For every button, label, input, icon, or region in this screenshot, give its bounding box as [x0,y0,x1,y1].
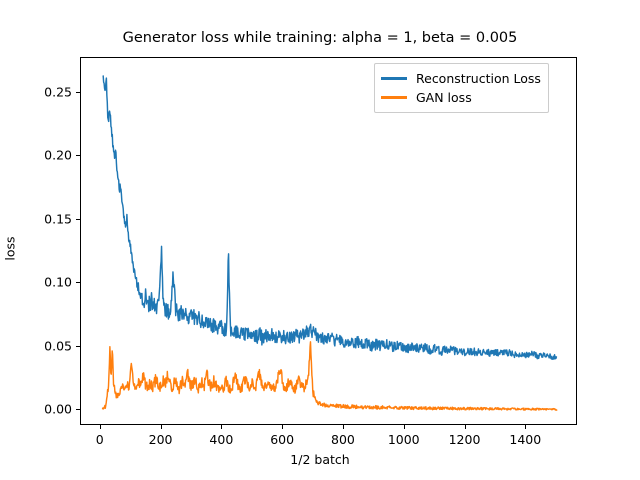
x-tick-mark [161,425,162,429]
x-tick-mark [343,425,344,429]
x-axis-label: 1/2 batch [0,452,640,467]
x-tick-mark [100,425,101,429]
x-tick-label: 1000 [388,432,420,447]
x-tick-mark [404,425,405,429]
x-tick-mark [282,425,283,429]
y-tick-mark [76,219,80,220]
y-tick-mark [76,346,80,347]
x-tick-label: 200 [149,432,173,447]
legend-item-gan-loss: GAN loss [381,88,541,107]
y-tick-mark [76,409,80,410]
legend-swatch-gan-loss [381,96,407,98]
y-tick-label: 0.20 [0,148,72,163]
x-tick-mark [465,425,466,429]
x-tick-label: 600 [270,432,294,447]
y-tick-label: 0.10 [0,275,72,290]
matplotlib-figure: Generator loss while training: alpha = 1… [0,0,640,480]
y-tick-label: 0.25 [0,84,72,99]
legend-label-gan-loss: GAN loss [416,90,472,105]
x-tick-label: 400 [209,432,233,447]
y-tick-label: 0.05 [0,338,72,353]
y-tick-label: 0.00 [0,402,72,417]
x-tick-label: 1200 [449,432,481,447]
legend-item-reconstruction-loss: Reconstruction Loss [381,69,541,88]
x-tick-label: 0 [96,432,104,447]
y-tick-mark [76,155,80,156]
y-axis-label: loss [3,236,18,260]
x-tick-mark [221,425,222,429]
x-tick-mark [525,425,526,429]
y-tick-mark [76,282,80,283]
series-line-reconstruction-loss [103,76,556,359]
y-tick-label: 0.15 [0,211,72,226]
x-tick-label: 1400 [509,432,541,447]
x-tick-label: 800 [331,432,355,447]
legend-label-reconstruction-loss: Reconstruction Loss [416,71,541,86]
legend-swatch-reconstruction-loss [381,77,407,79]
legend: Reconstruction Loss GAN loss [374,63,549,113]
y-tick-mark [76,92,80,93]
page-title: Generator loss while training: alpha = 1… [0,30,640,46]
